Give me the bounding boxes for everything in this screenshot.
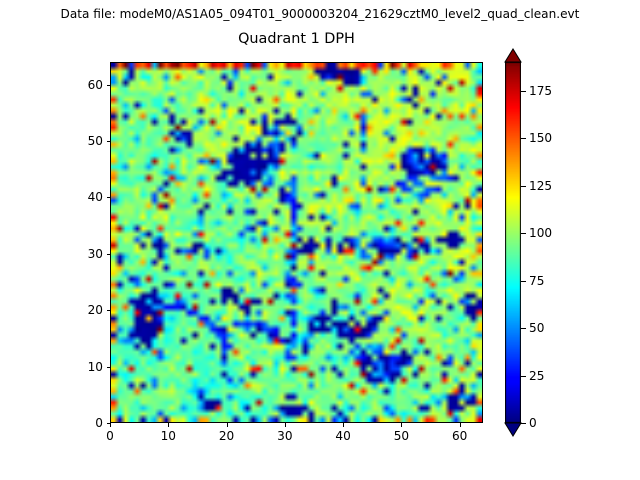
colorbar-tick-label: 50 bbox=[529, 321, 544, 335]
x-tick-label: 60 bbox=[452, 429, 467, 443]
colorbar-tick-mark bbox=[521, 281, 526, 282]
x-tick-label: 20 bbox=[219, 429, 234, 443]
x-tick-mark bbox=[285, 423, 286, 427]
y-tick-mark bbox=[107, 141, 111, 142]
y-tick-mark bbox=[107, 254, 111, 255]
colorbar-gradient[interactable] bbox=[505, 62, 521, 423]
y-tick-label: 40 bbox=[72, 190, 103, 204]
y-tick-label: 20 bbox=[72, 303, 103, 317]
y-tick-mark bbox=[107, 310, 111, 311]
x-tick-mark bbox=[168, 423, 169, 427]
x-tick-label: 30 bbox=[277, 429, 292, 443]
colorbar-tick-label: 150 bbox=[529, 131, 552, 145]
colorbar-tick-mark bbox=[521, 91, 526, 92]
colorbar-tick-label: 125 bbox=[529, 179, 552, 193]
x-tick-label: 0 bbox=[106, 429, 114, 443]
y-tick-mark bbox=[107, 423, 111, 424]
colorbar-tick-label: 25 bbox=[529, 369, 544, 383]
colorbar-tick-mark bbox=[521, 328, 526, 329]
y-tick-label: 10 bbox=[72, 360, 103, 374]
heatmap-axes[interactable] bbox=[110, 62, 483, 423]
y-tick-mark bbox=[107, 85, 111, 86]
colorbar-tick-mark bbox=[521, 423, 526, 424]
plot-title: Quadrant 1 DPH bbox=[110, 31, 483, 47]
figure-canvas: Data file: modeM0/AS1A05_094T01_90000032… bbox=[0, 0, 640, 480]
colorbar[interactable] bbox=[505, 62, 521, 423]
y-tick-label: 30 bbox=[72, 247, 103, 261]
x-tick-label: 50 bbox=[394, 429, 409, 443]
colorbar-tick-label: 175 bbox=[529, 84, 552, 98]
colorbar-tick-mark bbox=[521, 138, 526, 139]
x-tick-mark bbox=[227, 423, 228, 427]
colorbar-tick-label: 75 bbox=[529, 274, 544, 288]
x-tick-mark bbox=[460, 423, 461, 427]
detector-heatmap-image[interactable] bbox=[111, 63, 482, 422]
y-tick-mark bbox=[107, 367, 111, 368]
colorbar-tick-mark bbox=[521, 186, 526, 187]
x-tick-mark bbox=[401, 423, 402, 427]
colorbar-tick-label: 0 bbox=[529, 416, 537, 430]
x-tick-mark bbox=[110, 423, 111, 427]
y-tick-label: 60 bbox=[72, 78, 103, 92]
x-tick-label: 10 bbox=[161, 429, 176, 443]
x-tick-label: 40 bbox=[335, 429, 350, 443]
colorbar-tick-label: 100 bbox=[529, 226, 552, 240]
y-tick-label: 0 bbox=[72, 416, 103, 430]
data-file-label: Data file: modeM0/AS1A05_094T01_90000032… bbox=[0, 7, 640, 21]
x-tick-mark bbox=[343, 423, 344, 427]
y-tick-label: 50 bbox=[72, 134, 103, 148]
colorbar-tick-mark bbox=[521, 376, 526, 377]
y-tick-mark bbox=[107, 197, 111, 198]
colorbar-tick-mark bbox=[521, 233, 526, 234]
